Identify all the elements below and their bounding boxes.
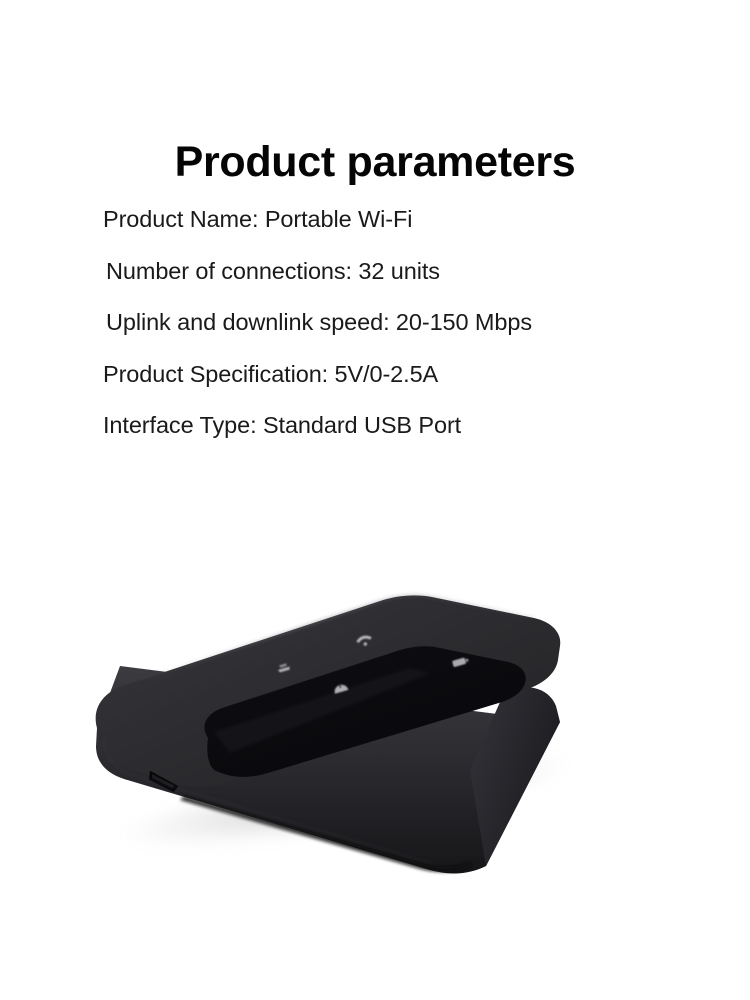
page-title: Product parameters: [0, 141, 750, 184]
device-right-wall: [470, 684, 560, 866]
product-photo: 15.5mm 59mm 98mm: [0, 470, 750, 1000]
portable-wifi-device-illustration: [0, 470, 750, 1000]
spec-item-uplink-downlink-speed: Uplink and downlink speed: 20-150 Mbps: [103, 311, 663, 335]
spec-item-number-of-connections: Number of connections: 32 units: [103, 260, 663, 284]
product-parameters-page: Product parameters Product Name: Portabl…: [0, 0, 750, 1000]
spec-item-product-name: Product Name: Portable Wi-Fi: [103, 208, 663, 232]
spec-item-product-specification: Product Specification: 5V/0-2.5A: [103, 363, 663, 387]
spec-item-interface-type: Interface Type: Standard USB Port: [103, 414, 663, 438]
specification-list: Product Name: Portable Wi-Fi Number of c…: [103, 208, 663, 466]
